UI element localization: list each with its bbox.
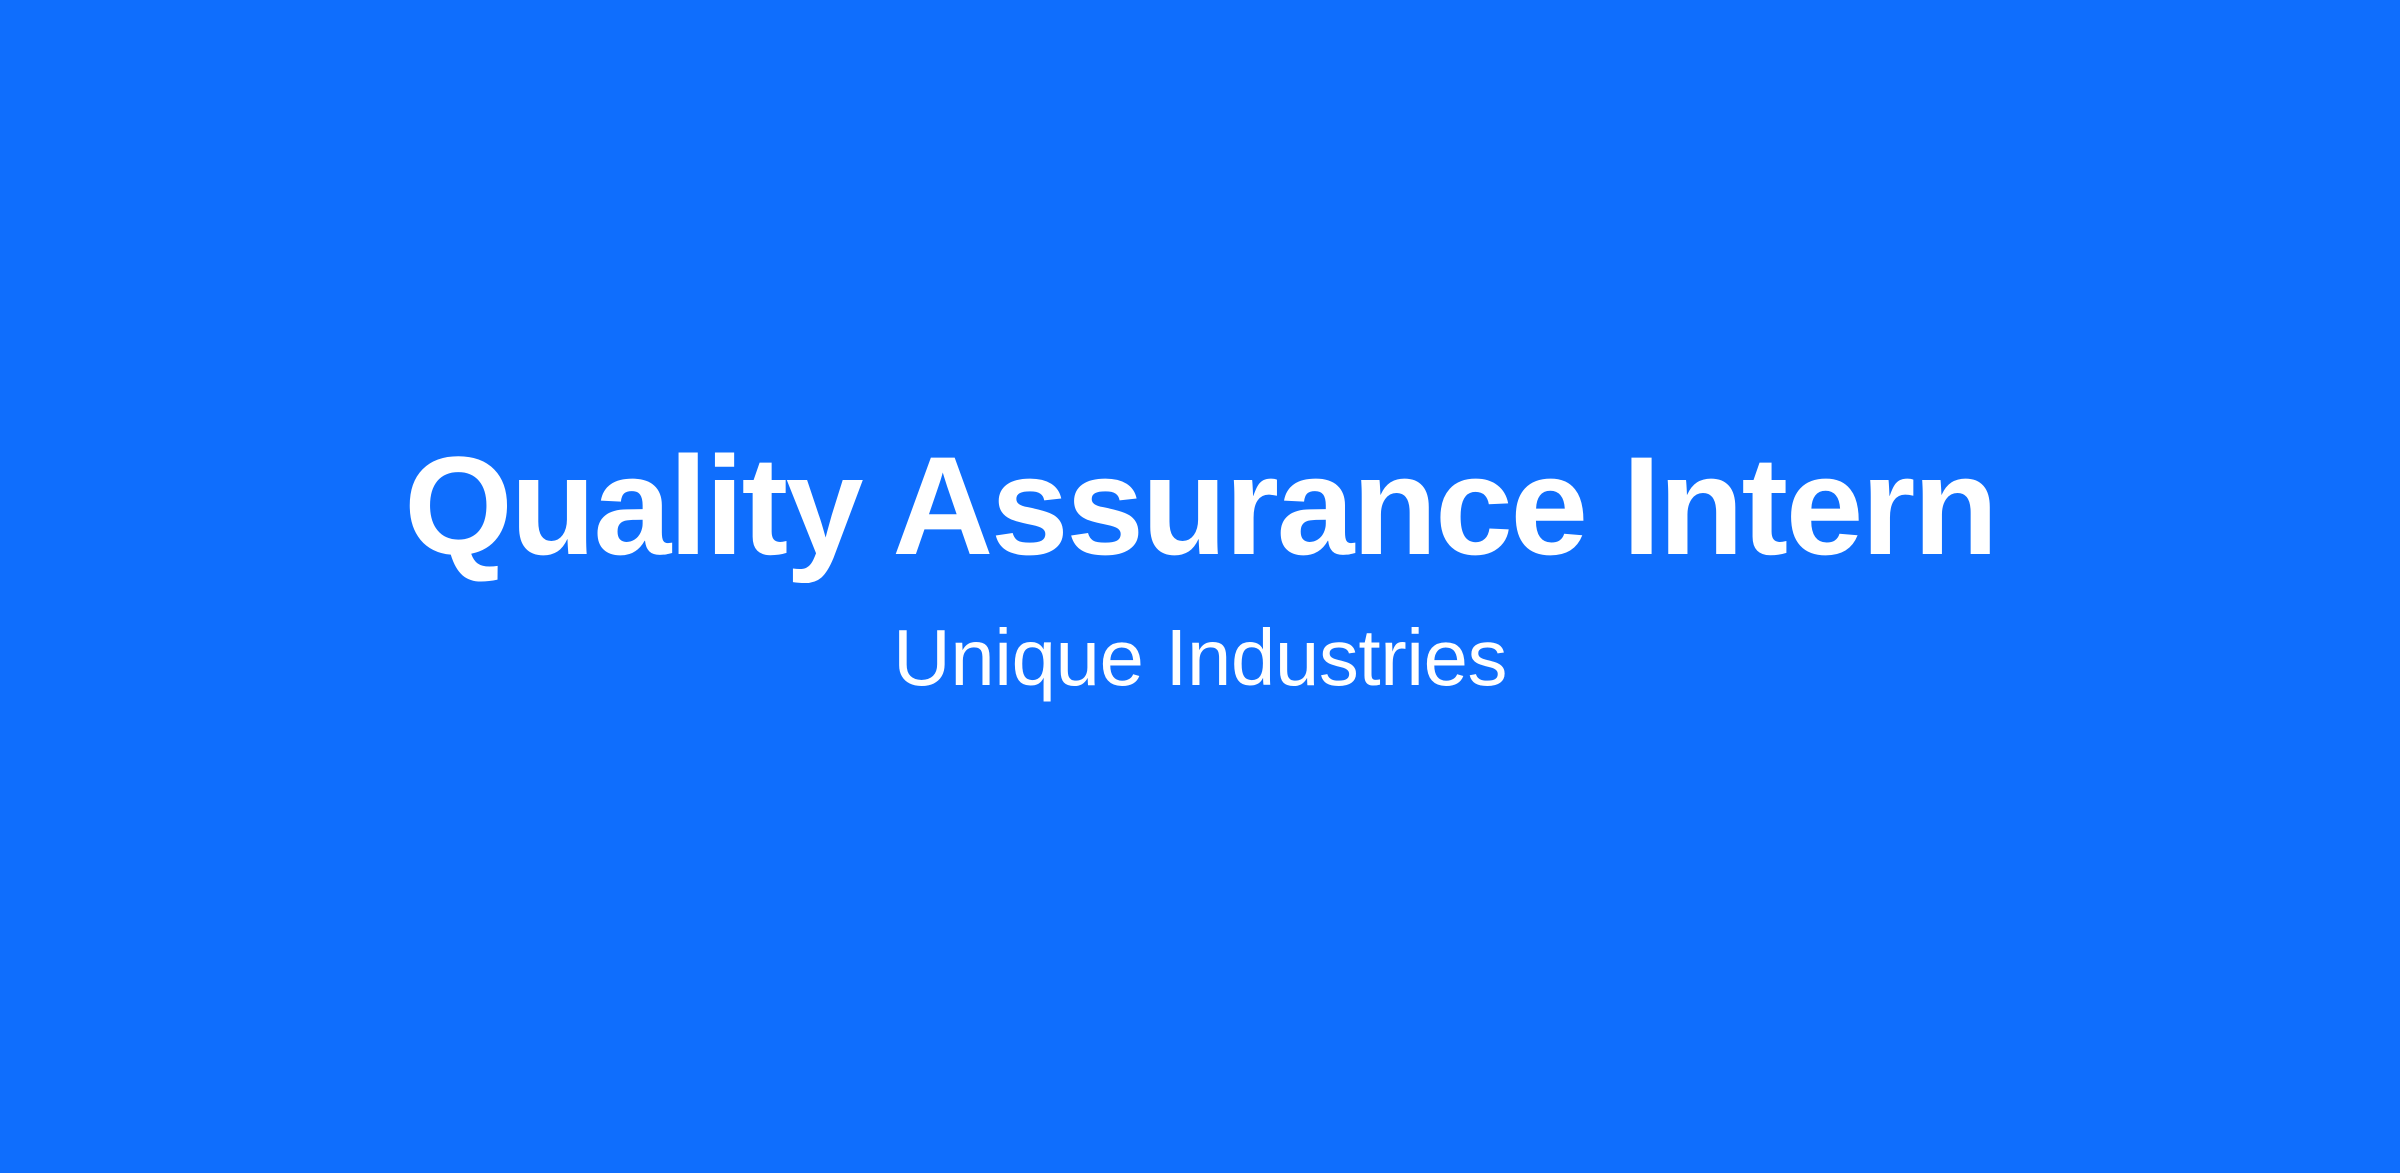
job-title: Quality Assurance Intern	[404, 436, 1996, 576]
job-hero-content: Quality Assurance Intern Unique Industri…	[0, 436, 2400, 698]
job-hero-card: Quality Assurance Intern Unique Industri…	[0, 0, 2400, 1173]
company-name: Unique Industries	[893, 618, 1507, 698]
